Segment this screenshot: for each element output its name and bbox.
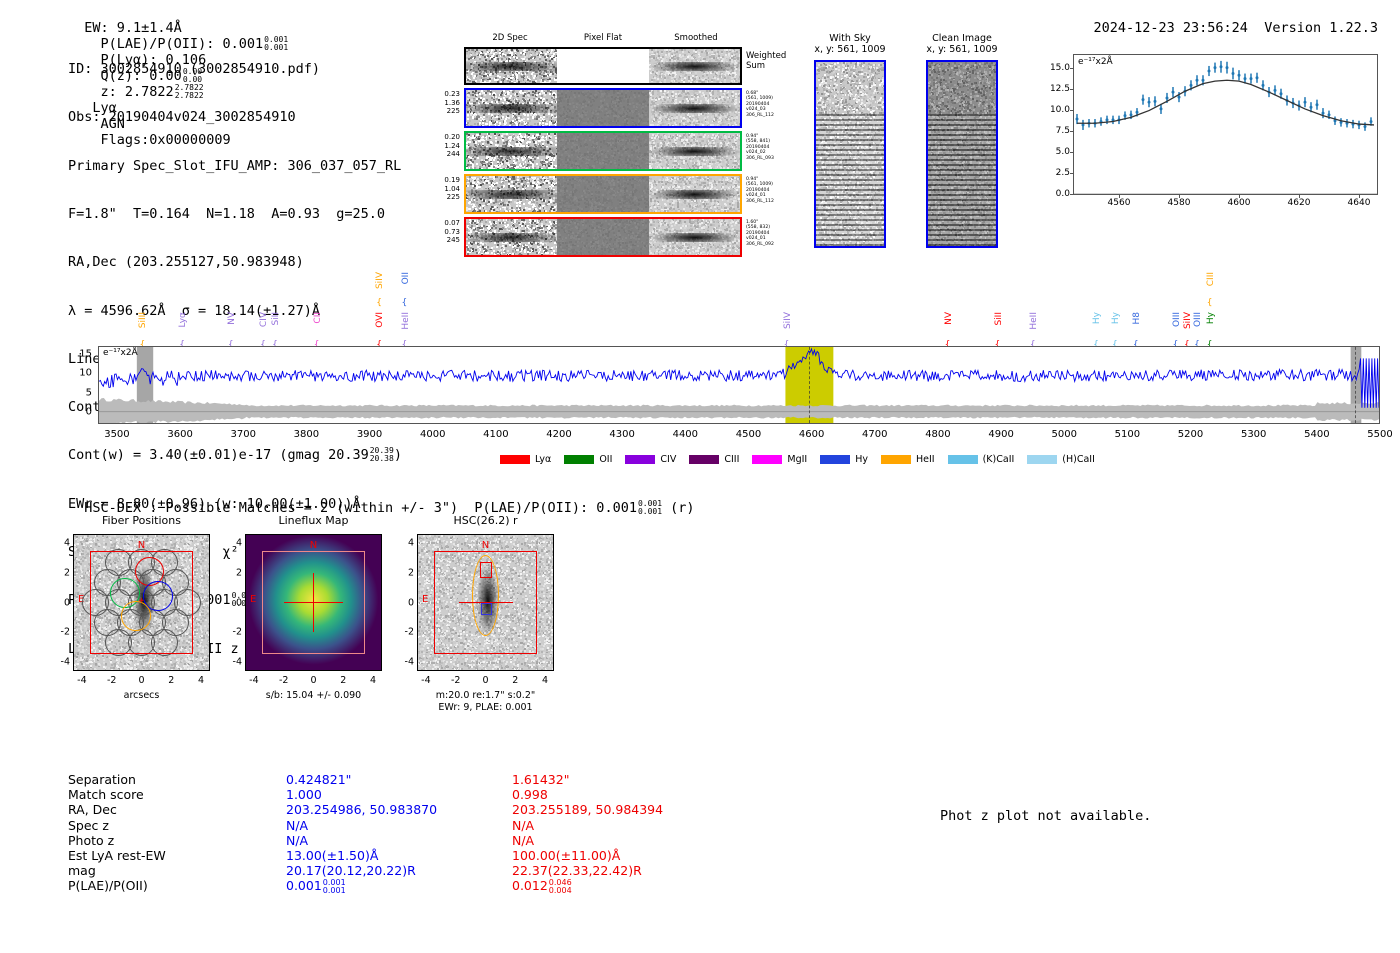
spectrum-xtick: 4600 — [799, 429, 824, 440]
spec2d-col-title-pixelflat: Pixel Flat — [557, 33, 649, 43]
match-table-row: Photo zN/AN/A — [68, 833, 663, 848]
legend-item: CIV — [625, 454, 676, 465]
match-table: Separation0.424821"1.61432"Match score1.… — [68, 772, 663, 894]
tick-mark — [1359, 194, 1360, 198]
spec2d-trace — [466, 233, 557, 242]
emission-line-plot: e⁻¹⁷x2Å 0.02.55.07.510.012.515.045604580… — [1035, 50, 1380, 225]
spectrum-xtick: 3600 — [167, 429, 192, 440]
legend-swatch — [820, 455, 850, 464]
emission-line-ytick: 5.0 — [1056, 147, 1070, 157]
spec2d-row-stats: 0.191.04225 — [424, 176, 460, 202]
emission-line-ytick: 7.5 — [1056, 126, 1070, 136]
legend-item: HeII — [881, 454, 935, 465]
trio-caption: arcsecs — [53, 690, 230, 702]
legend-label: CIV — [660, 454, 676, 465]
emission-line-ytick: 0.0 — [1056, 189, 1070, 199]
spec2d-cell — [466, 49, 557, 83]
legend-item: Hy — [820, 454, 868, 465]
match-table-label: Photo z — [68, 833, 286, 848]
spec2d-cell — [557, 219, 648, 255]
legend-label: (K)CaII — [983, 454, 1015, 465]
emission-line-xtick: 4640 — [1348, 198, 1371, 208]
spectrum-xtick: 5400 — [1304, 429, 1329, 440]
match-table-row: Match score1.0000.998 — [68, 787, 663, 802]
spectrum-line-label: SiIV — [783, 312, 793, 329]
spectrum-line-label: SiII — [271, 312, 281, 326]
spec2d-trace — [466, 62, 557, 71]
spectrum-svg — [99, 347, 1379, 423]
spectrum-line-label: OIII — [1193, 312, 1203, 327]
spectrum-xtick: 4700 — [862, 429, 887, 440]
match-table-value-primary: 1.000 — [286, 787, 512, 802]
match-table-row: Spec zN/AN/A — [68, 818, 663, 833]
spec2d-trace — [466, 147, 557, 156]
spectrum-line-label: CIV — [259, 312, 269, 327]
tick-mark — [1239, 194, 1240, 198]
match-table-value-secondary: 203.255189, 50.984394 — [512, 802, 663, 817]
full-spectrum-plot: SiIII{Lyα{NV{CIV{SiII{CII{OVI{SiIV{HeII{… — [60, 268, 1400, 468]
legend-item: (K)CaII — [948, 454, 1015, 465]
trio-title: Lineflux Map — [245, 514, 382, 527]
legend-swatch — [1027, 455, 1057, 464]
trio-panel[interactable]: NE — [245, 534, 382, 671]
legend-swatch — [564, 455, 594, 464]
match-table-row: Est LyA rest-EW13.00(±1.50)Å100.00(±11.0… — [68, 848, 663, 863]
header-timestamp-version: 2024-12-23 23:56:24 Version 1.22.3 — [1077, 4, 1378, 36]
match-table-value-primary: 203.254986, 50.983870 — [286, 802, 512, 817]
info-params: F=1.8" T=0.164 N=1.18 A=0.93 g=25.0 — [68, 206, 402, 222]
spec2d-cell — [649, 219, 740, 255]
match-table-label: RA, Dec — [68, 802, 286, 817]
spectrum-xtick: 4400 — [673, 429, 698, 440]
trio-ytick: 2 — [400, 567, 414, 578]
spectrum-line-label: CIII — [1206, 272, 1216, 286]
spectrum-line-label: OII — [401, 272, 411, 284]
spec2d-row — [464, 47, 742, 85]
spectrum-legend: LyαOIICIVCIIIMgIIHyHeII(K)CaII(H)CaII — [500, 454, 1108, 465]
legend-item: Lyα — [500, 454, 551, 465]
legend-label: OII — [599, 454, 612, 465]
aperture-box-secondary — [481, 603, 492, 615]
trio-ytick: -2 — [56, 627, 70, 638]
top-cutout-group: With Skyx, y: 561, 1009 Clean Imagex, y:… — [800, 33, 1020, 248]
legend-swatch — [948, 455, 978, 464]
spectrum-line-label: Lyα — [178, 312, 188, 327]
trio-xtick: 2 — [340, 675, 346, 686]
spec2d-cell — [557, 49, 648, 83]
spec2d-cell — [466, 219, 557, 255]
legend-label: MgII — [787, 454, 807, 465]
tick-mark — [1070, 194, 1074, 195]
trio-ytick: 4 — [228, 537, 242, 548]
trio-ytick: 0 — [228, 597, 242, 608]
match-table-label: Match score — [68, 787, 286, 802]
spec2d-cell — [649, 49, 740, 83]
legend-swatch — [689, 455, 719, 464]
match-table-value-secondary: N/A — [512, 818, 534, 833]
spec2d-trace — [649, 190, 740, 199]
spec2d-trace — [649, 233, 740, 242]
legend-item: CIII — [689, 454, 739, 465]
spec2d-cell — [557, 90, 648, 126]
spectrum-line-label: OIII — [1172, 312, 1182, 327]
cutout-banding — [816, 114, 884, 246]
tick-mark — [1070, 68, 1074, 69]
spec2d-col-title-smoothed: Smoothed — [650, 33, 742, 43]
trio-caption: s/b: 15.04 +/- 0.090 — [225, 690, 402, 702]
emission-line-ytick: 10.0 — [1050, 105, 1070, 115]
spec2d-row-meta: 0.94"(558, 841)20190404v024_02306_RL_093 — [746, 134, 774, 161]
trio-xtick: 4 — [370, 675, 376, 686]
spec2d-trace — [649, 147, 740, 156]
match-table-value-secondary: N/A — [512, 833, 534, 848]
trio-ytick: 4 — [400, 537, 414, 548]
legend-label: Hy — [855, 454, 868, 465]
orientation-label-north: N — [482, 540, 489, 551]
center-crosshair: + — [139, 598, 145, 604]
trio-xtick: 2 — [168, 675, 174, 686]
emission-line-svg — [1074, 55, 1377, 194]
spectrum-xtick: 4300 — [609, 429, 634, 440]
center-crosshair — [459, 602, 513, 603]
emission-line-ytick: 12.5 — [1050, 84, 1070, 94]
spec2d-weighted-sum-label: WeightedSum — [746, 51, 786, 71]
spectrum-ytick: 5 — [68, 387, 92, 398]
legend-label: (H)CaII — [1062, 454, 1095, 465]
trio-ytick: -4 — [56, 657, 70, 668]
trio-panel[interactable]: NE+ — [73, 534, 210, 671]
trio-xtick: 2 — [512, 675, 518, 686]
spectrum-xtick: 5100 — [1115, 429, 1140, 440]
match-table-label: Est LyA rest-EW — [68, 848, 286, 863]
trio-title: HSC(26.2) r — [417, 514, 554, 527]
cutout-clean-image — [926, 60, 998, 248]
spec2d-row-meta: 0.68"(561, 1009)20190404v024_03306_RL_11… — [746, 91, 774, 118]
match-table-value-primary: 13.00(±1.50)Å — [286, 848, 512, 863]
spec2d-cell — [557, 133, 648, 169]
spec2d-row — [464, 88, 742, 128]
cutout-banding — [928, 114, 996, 246]
trio-panel[interactable]: NE — [417, 534, 554, 671]
spectrum-line-label: SiIV — [375, 272, 385, 289]
spectrum-line-label: SiIII — [138, 312, 148, 328]
spec2d-row — [464, 217, 742, 257]
trio-ytick: 0 — [56, 597, 70, 608]
spectrum-line-label: Hy — [1206, 312, 1216, 324]
trio-caption: m:20.0 re:1.7" s:0.2"EWr: 9, PLAE: 0.001 — [397, 690, 574, 714]
legend-item: (H)CaII — [1027, 454, 1095, 465]
emission-line-xtick: 4620 — [1288, 198, 1311, 208]
spectrum-xtick: 3500 — [104, 429, 129, 440]
match-table-label: P(LAE)/P(OII) — [68, 878, 286, 893]
trio-xtick: 0 — [310, 675, 316, 686]
trio-xtick: -2 — [279, 675, 288, 686]
info-obs: Obs: 20190404v024_3002854910 — [68, 109, 402, 125]
spectrum-line-label: SiII — [994, 312, 1004, 326]
emission-line-xtick: 4600 — [1228, 198, 1251, 208]
trio-ytick: 0 — [400, 597, 414, 608]
emission-line-ytick: 2.5 — [1056, 168, 1070, 178]
center-crosshair-vertical — [313, 573, 314, 632]
cutout-title-clean-image: Clean Imagex, y: 561, 1009 — [912, 33, 1012, 55]
cutout-title-with-sky: With Skyx, y: 561, 1009 — [800, 33, 900, 55]
spectrum-xtick: 5000 — [1052, 429, 1077, 440]
spec2d-row-stats: 0.201.24244 — [424, 133, 460, 159]
trio-ytick: 2 — [56, 567, 70, 578]
spec2d-row-meta: 1.60"(558, 832)20190404v024_01306_RL_092 — [746, 220, 774, 247]
emission-line-units-label: e⁻¹⁷x2Å — [1078, 57, 1113, 67]
trio-xtick: -2 — [107, 675, 116, 686]
spectrum-ytick: 10 — [68, 368, 92, 379]
match-table-value-secondary: 0.0120.0460.004 — [512, 878, 572, 893]
orientation-label-north: N — [310, 540, 317, 551]
spec2d-cell — [649, 176, 740, 212]
header-version: Version 1.22.3 — [1264, 20, 1378, 36]
trio-ytick: 2 — [228, 567, 242, 578]
spec2d-trace — [649, 104, 740, 113]
spec2d-cell — [649, 133, 740, 169]
orientation-label-east: E — [422, 594, 428, 605]
match-table-value-secondary: 22.37(22.33,22.42)R — [512, 863, 642, 878]
info-id: ID: 3002854910 (3002854910.pdf) — [68, 61, 402, 77]
spec2d-row-stats: 0.070.73245 — [424, 219, 460, 245]
spectrum-axes: e⁻¹⁷x2Å — [98, 346, 1380, 424]
spectrum-line-label: OVI — [375, 312, 385, 328]
spectrum-ytick: 0 — [68, 407, 92, 418]
trio-xtick: 0 — [138, 675, 144, 686]
spec2d-cell — [466, 176, 557, 212]
legend-swatch — [881, 455, 911, 464]
photz-note: Phot z plot not available. — [940, 808, 1151, 824]
spectrum-xtick: 4900 — [988, 429, 1013, 440]
match-table-value-secondary: 100.00(±11.00)Å — [512, 848, 620, 863]
trio-xtick: -4 — [421, 675, 430, 686]
match-table-row: RA, Dec203.254986, 50.983870203.255189, … — [68, 802, 663, 817]
spec2d-cell — [649, 90, 740, 126]
spectrum-xtick: 4500 — [736, 429, 761, 440]
spectrum-xtick: 4800 — [925, 429, 950, 440]
trio-xtick: -2 — [451, 675, 460, 686]
tick-mark — [1119, 194, 1120, 198]
legend-label: CIII — [724, 454, 739, 465]
spec2d-row — [464, 131, 742, 171]
cutout-trio-group: Fiber PositionsNE+-4-4-2-2002244arcsecsL… — [55, 510, 615, 740]
spectrum-line-bracket: { — [376, 298, 382, 308]
spec2d-trace — [649, 62, 740, 71]
tick-mark — [1070, 173, 1074, 174]
orientation-label-east: E — [250, 594, 256, 605]
match-table-label: Spec z — [68, 818, 286, 833]
spec2d-trace — [466, 190, 557, 199]
match-table-value-primary: 0.0010.0010.001 — [286, 878, 512, 893]
tick-mark — [1070, 110, 1074, 111]
spectrum-units-label: e⁻¹⁷x2Å — [103, 348, 138, 358]
spectrum-xtick: 4100 — [483, 429, 508, 440]
legend-item: OII — [564, 454, 612, 465]
legend-item: MgII — [752, 454, 807, 465]
info-primary-spec: Primary Spec_Slot_IFU_AMP: 306_037_057_R… — [68, 158, 402, 174]
trio-xtick: 4 — [542, 675, 548, 686]
header-datetime: 2024-12-23 23:56:24 — [1094, 20, 1248, 36]
spec2d-cell — [466, 90, 557, 126]
trio-xtick: -4 — [77, 675, 86, 686]
spectrum-line-label: HeII — [1029, 312, 1039, 330]
match-table-value-primary: 0.424821" — [286, 772, 512, 787]
trio-xtick: -4 — [249, 675, 258, 686]
spectrum-xtick: 3800 — [294, 429, 319, 440]
spec2d-panel-group: 2D Spec Pixel Flat Smoothed WeightedSum … — [424, 33, 784, 248]
match-table-label: Separation — [68, 772, 286, 787]
spectrum-line-label: NV — [227, 312, 237, 325]
spectrum-xtick: 3900 — [357, 429, 382, 440]
spectrum-line-label: H8 — [1132, 312, 1142, 325]
trio-xtick: 4 — [198, 675, 204, 686]
match-table-value-primary: N/A — [286, 833, 512, 848]
spectrum-line-label: HeII — [401, 312, 411, 330]
legend-swatch — [625, 455, 655, 464]
spec2d-row-stats: 0.231.36225 — [424, 90, 460, 116]
tick-mark — [1070, 131, 1074, 132]
trio-ytick: -4 — [400, 657, 414, 668]
legend-label: HeII — [916, 454, 935, 465]
legend-swatch — [752, 455, 782, 464]
spectrum-ytick: 15 — [68, 348, 92, 359]
match-table-value-primary: N/A — [286, 818, 512, 833]
tick-mark — [1299, 194, 1300, 198]
trio-ytick: -2 — [400, 627, 414, 638]
spectrum-line-label: Hy — [1092, 312, 1102, 324]
match-table-value-secondary: 0.998 — [512, 787, 548, 802]
spec2d-row — [464, 174, 742, 214]
emission-line-axes: e⁻¹⁷x2Å 0.02.55.07.510.012.515.045604580… — [1073, 54, 1378, 195]
spec2d-col-title-2dspec: 2D Spec — [464, 33, 556, 43]
tick-mark — [1070, 152, 1074, 153]
spectrum-line-label: SiIV — [1183, 312, 1193, 329]
spectrum-xtick: 5300 — [1241, 429, 1266, 440]
trio-ytick: -4 — [228, 657, 242, 668]
aperture-box — [480, 562, 492, 578]
match-table-row: Separation0.424821"1.61432" — [68, 772, 663, 787]
tick-mark — [1179, 194, 1180, 198]
spectrum-line-label: CII — [313, 312, 323, 324]
match-table-value-secondary: 1.61432" — [512, 772, 569, 787]
spectrum-line-bracket: { — [1207, 298, 1213, 308]
trio-ytick: 4 — [56, 537, 70, 548]
spectrum-line-label: Hy — [1111, 312, 1121, 324]
spectrum-line-label: NV — [944, 312, 954, 325]
spec2d-row-meta: 0.94"(561, 1009)20190404v024_01306_RL_11… — [746, 177, 774, 204]
match-table-value-primary: 20.17(20.12,20.22)R — [286, 863, 512, 878]
spec2d-cell — [466, 133, 557, 169]
legend-label: Lyα — [535, 454, 551, 465]
trio-ytick: -2 — [228, 627, 242, 638]
emission-line-xtick: 4560 — [1108, 198, 1131, 208]
spec2d-cell — [557, 176, 648, 212]
tick-mark — [1070, 89, 1074, 90]
spec2d-trace — [466, 104, 557, 113]
trio-title: Fiber Positions — [73, 514, 210, 527]
match-table-label: mag — [68, 863, 286, 878]
emission-line-xtick: 4580 — [1168, 198, 1191, 208]
match-table-row: mag20.17(20.12,20.22)R22.37(22.33,22.42)… — [68, 863, 663, 878]
spectrum-xtick: 5500 — [1367, 429, 1392, 440]
emission-line-ytick: 15.0 — [1050, 63, 1070, 73]
cutout-with-sky — [814, 60, 886, 248]
trio-xtick: 0 — [482, 675, 488, 686]
spectrum-xtick: 4200 — [546, 429, 571, 440]
spectrum-line-bracket: { — [402, 298, 408, 308]
spectrum-xtick: 3700 — [231, 429, 256, 440]
match-table-row: P(LAE)/P(OII)0.0010.0010.0010.0120.0460.… — [68, 878, 663, 893]
legend-swatch — [500, 455, 530, 464]
spectrum-xtick: 5200 — [1178, 429, 1203, 440]
spectrum-xtick: 4000 — [420, 429, 445, 440]
